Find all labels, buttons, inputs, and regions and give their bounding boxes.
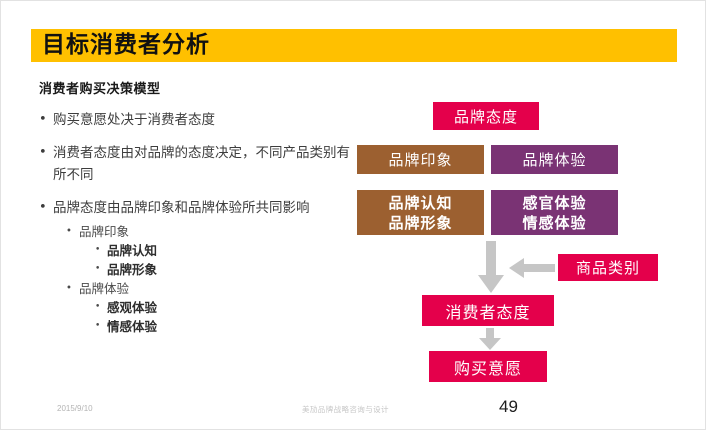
list-item: • 购买意愿处决于消费者态度 — [35, 109, 355, 131]
diagram-box-brand-experience: 品牌体验 — [491, 145, 618, 174]
list-item-label: 情感体验 — [107, 319, 157, 334]
list-item-label: 品牌认知 — [107, 243, 157, 258]
diagram-box-product-category: 商品类别 — [558, 254, 658, 281]
section-subtitle: 消费者购买决策模型 — [39, 78, 161, 97]
list-item-label: 品牌印象 — [79, 224, 129, 239]
diagram-box-purchase-intent: 购买意愿 — [429, 351, 547, 382]
bullet-marker: • — [39, 109, 47, 131]
bullet-marker: • — [39, 197, 47, 219]
footer-page-number: 49 — [499, 397, 518, 417]
list-item-label: 品牌形象 — [107, 262, 157, 277]
list-item-label: 消费者态度由对品牌的态度决定，不同产品类别有所不同 — [53, 145, 350, 183]
bullet-list: • 购买意愿处决于消费者态度 • 消费者态度由对品牌的态度决定，不同产品类别有所… — [35, 109, 355, 336]
list-item: • 感观体验 — [35, 298, 355, 317]
arrow-left-icon — [509, 258, 555, 278]
bullet-marker: • — [95, 298, 100, 317]
bullet-marker: • — [66, 222, 72, 241]
bullet-marker: • — [95, 317, 100, 336]
bullet-marker: • — [95, 241, 100, 260]
page-title: 目标消费者分析 — [42, 29, 210, 62]
list-item: • 品牌态度由品牌印象和品牌体验所共同影响 — [35, 197, 355, 219]
diagram-box-brand-impression: 品牌印象 — [357, 145, 484, 174]
list-item: • 情感体验 — [35, 317, 355, 336]
diagram-box-consumer-attitude: 消费者态度 — [422, 295, 554, 326]
list-item-label: 感观体验 — [107, 300, 157, 315]
list-item: • 品牌印象 — [35, 222, 355, 241]
diagram-box-sense-emotion: 感官体验 情感体验 — [491, 190, 618, 235]
arrow-down-icon — [478, 241, 504, 293]
bullet-marker: • — [39, 142, 47, 164]
bullet-marker: • — [66, 279, 72, 298]
list-item: • 品牌体验 — [35, 279, 355, 298]
list-item-label: 品牌态度由品牌印象和品牌体验所共同影响 — [53, 200, 310, 216]
list-item-label: 购买意愿处决于消费者态度 — [53, 112, 215, 128]
list-item: • 品牌形象 — [35, 260, 355, 279]
footer-company: 美劢品牌战略咨询与设计 — [302, 404, 389, 415]
arrow-down-small-icon — [479, 328, 501, 350]
bullet-marker: • — [95, 260, 100, 279]
list-item: • 品牌认知 — [35, 241, 355, 260]
diagram-box-cognition-image: 品牌认知 品牌形象 — [357, 190, 484, 235]
list-item: • 消费者态度由对品牌的态度决定，不同产品类别有所不同 — [35, 142, 355, 186]
list-item-label: 品牌体验 — [79, 281, 129, 296]
slide-canvas: 目标消费者分析 消费者购买决策模型 • 购买意愿处决于消费者态度 • 消费者态度… — [0, 0, 706, 430]
footer-date: 2015/9/10 — [57, 404, 93, 413]
diagram-box-brand-attitude: 品牌态度 — [433, 102, 539, 130]
